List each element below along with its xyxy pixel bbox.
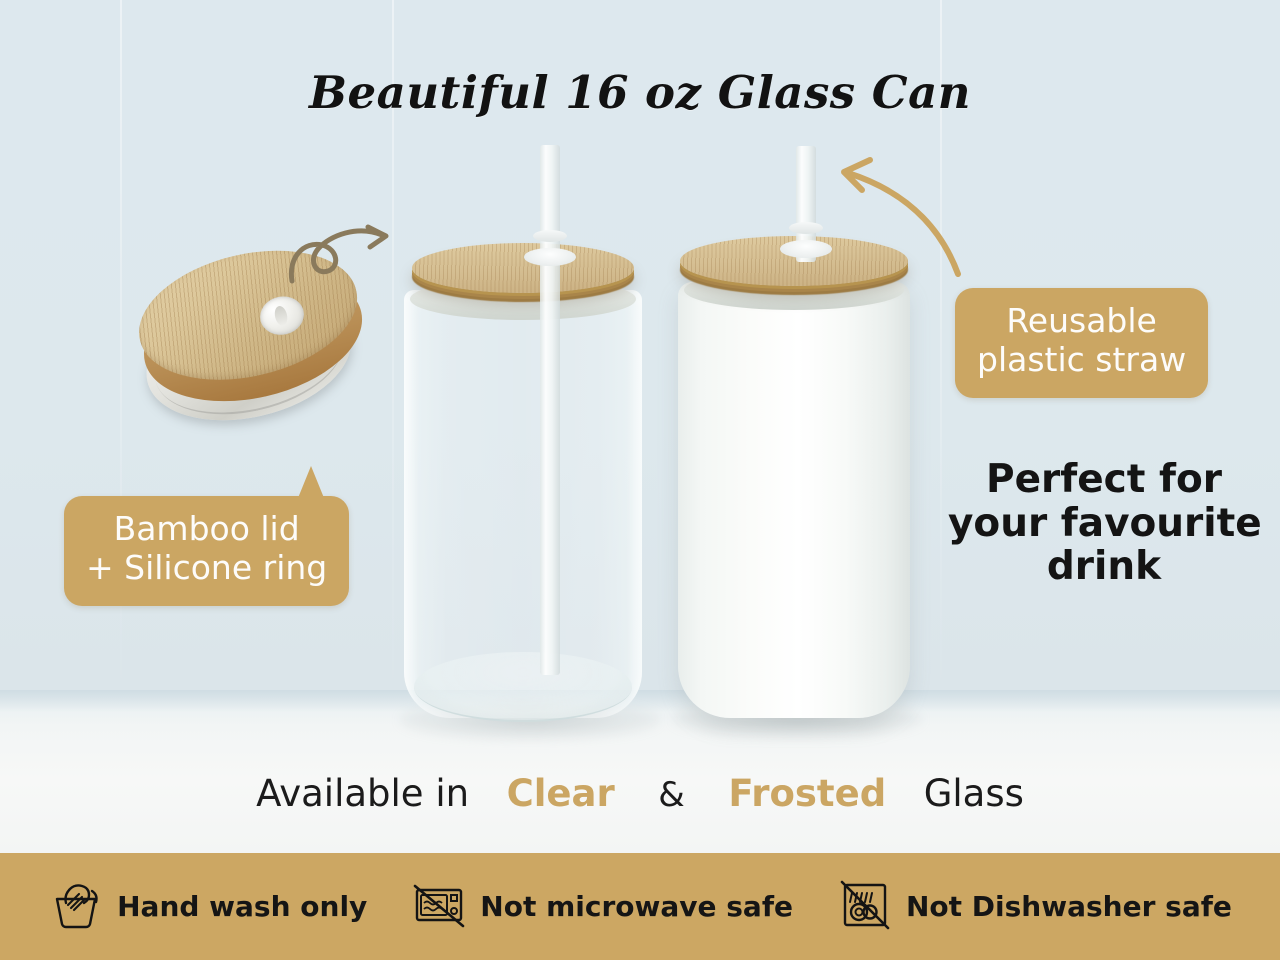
callout-line: Reusable [977, 302, 1186, 341]
availability-prefix: Available in [256, 772, 469, 815]
straw-grommet [524, 248, 576, 266]
callout-reusable-straw: Reusable plastic straw [955, 288, 1208, 398]
callout-line: plastic straw [977, 341, 1186, 380]
no-microwave-icon [411, 877, 467, 937]
can-base [414, 652, 632, 722]
availability-option-frosted: Frosted [728, 772, 886, 815]
straw-collar [789, 222, 823, 234]
callout-pointer [298, 466, 324, 498]
care-instructions-band: Hand wash only Not microwave safe [0, 853, 1280, 960]
availability-conjunction: & [652, 775, 691, 815]
care-item-hand-wash: Hand wash only [48, 877, 367, 937]
product-infographic: Beautiful 16 oz Glass Can [0, 0, 1280, 960]
availability-suffix: Glass [924, 772, 1024, 815]
hand-wash-icon [48, 877, 104, 937]
curly-arrow-icon [286, 205, 416, 289]
callout-line: + Silicone ring [86, 549, 327, 588]
straw-grommet [780, 240, 832, 258]
tagline: Perfect for your favourite drink [948, 458, 1260, 589]
callout-bamboo-lid: Bamboo lid + Silicone ring [64, 496, 349, 606]
callout-line: Bamboo lid [86, 510, 327, 549]
bamboo-lid-top [412, 243, 634, 293]
glass-body-frosted [678, 282, 910, 718]
plastic-straw [540, 145, 560, 675]
care-label: Hand wash only [117, 890, 367, 923]
straw-collar [533, 230, 567, 242]
tagline-line: drink [948, 545, 1260, 589]
care-item-no-dishwasher: Not Dishwasher safe [837, 877, 1232, 937]
tagline-line: your favourite [948, 502, 1260, 546]
care-label: Not microwave safe [480, 890, 793, 923]
availability-line: Available in Clear & Frosted Glass [0, 772, 1280, 815]
care-label: Not Dishwasher safe [906, 890, 1232, 923]
no-dishwasher-icon [837, 877, 893, 937]
page-title: Beautiful 16 oz Glass Can [0, 66, 1280, 119]
availability-option-clear: Clear [507, 772, 615, 815]
tagline-line: Perfect for [948, 458, 1260, 502]
care-item-no-microwave: Not microwave safe [411, 877, 793, 937]
